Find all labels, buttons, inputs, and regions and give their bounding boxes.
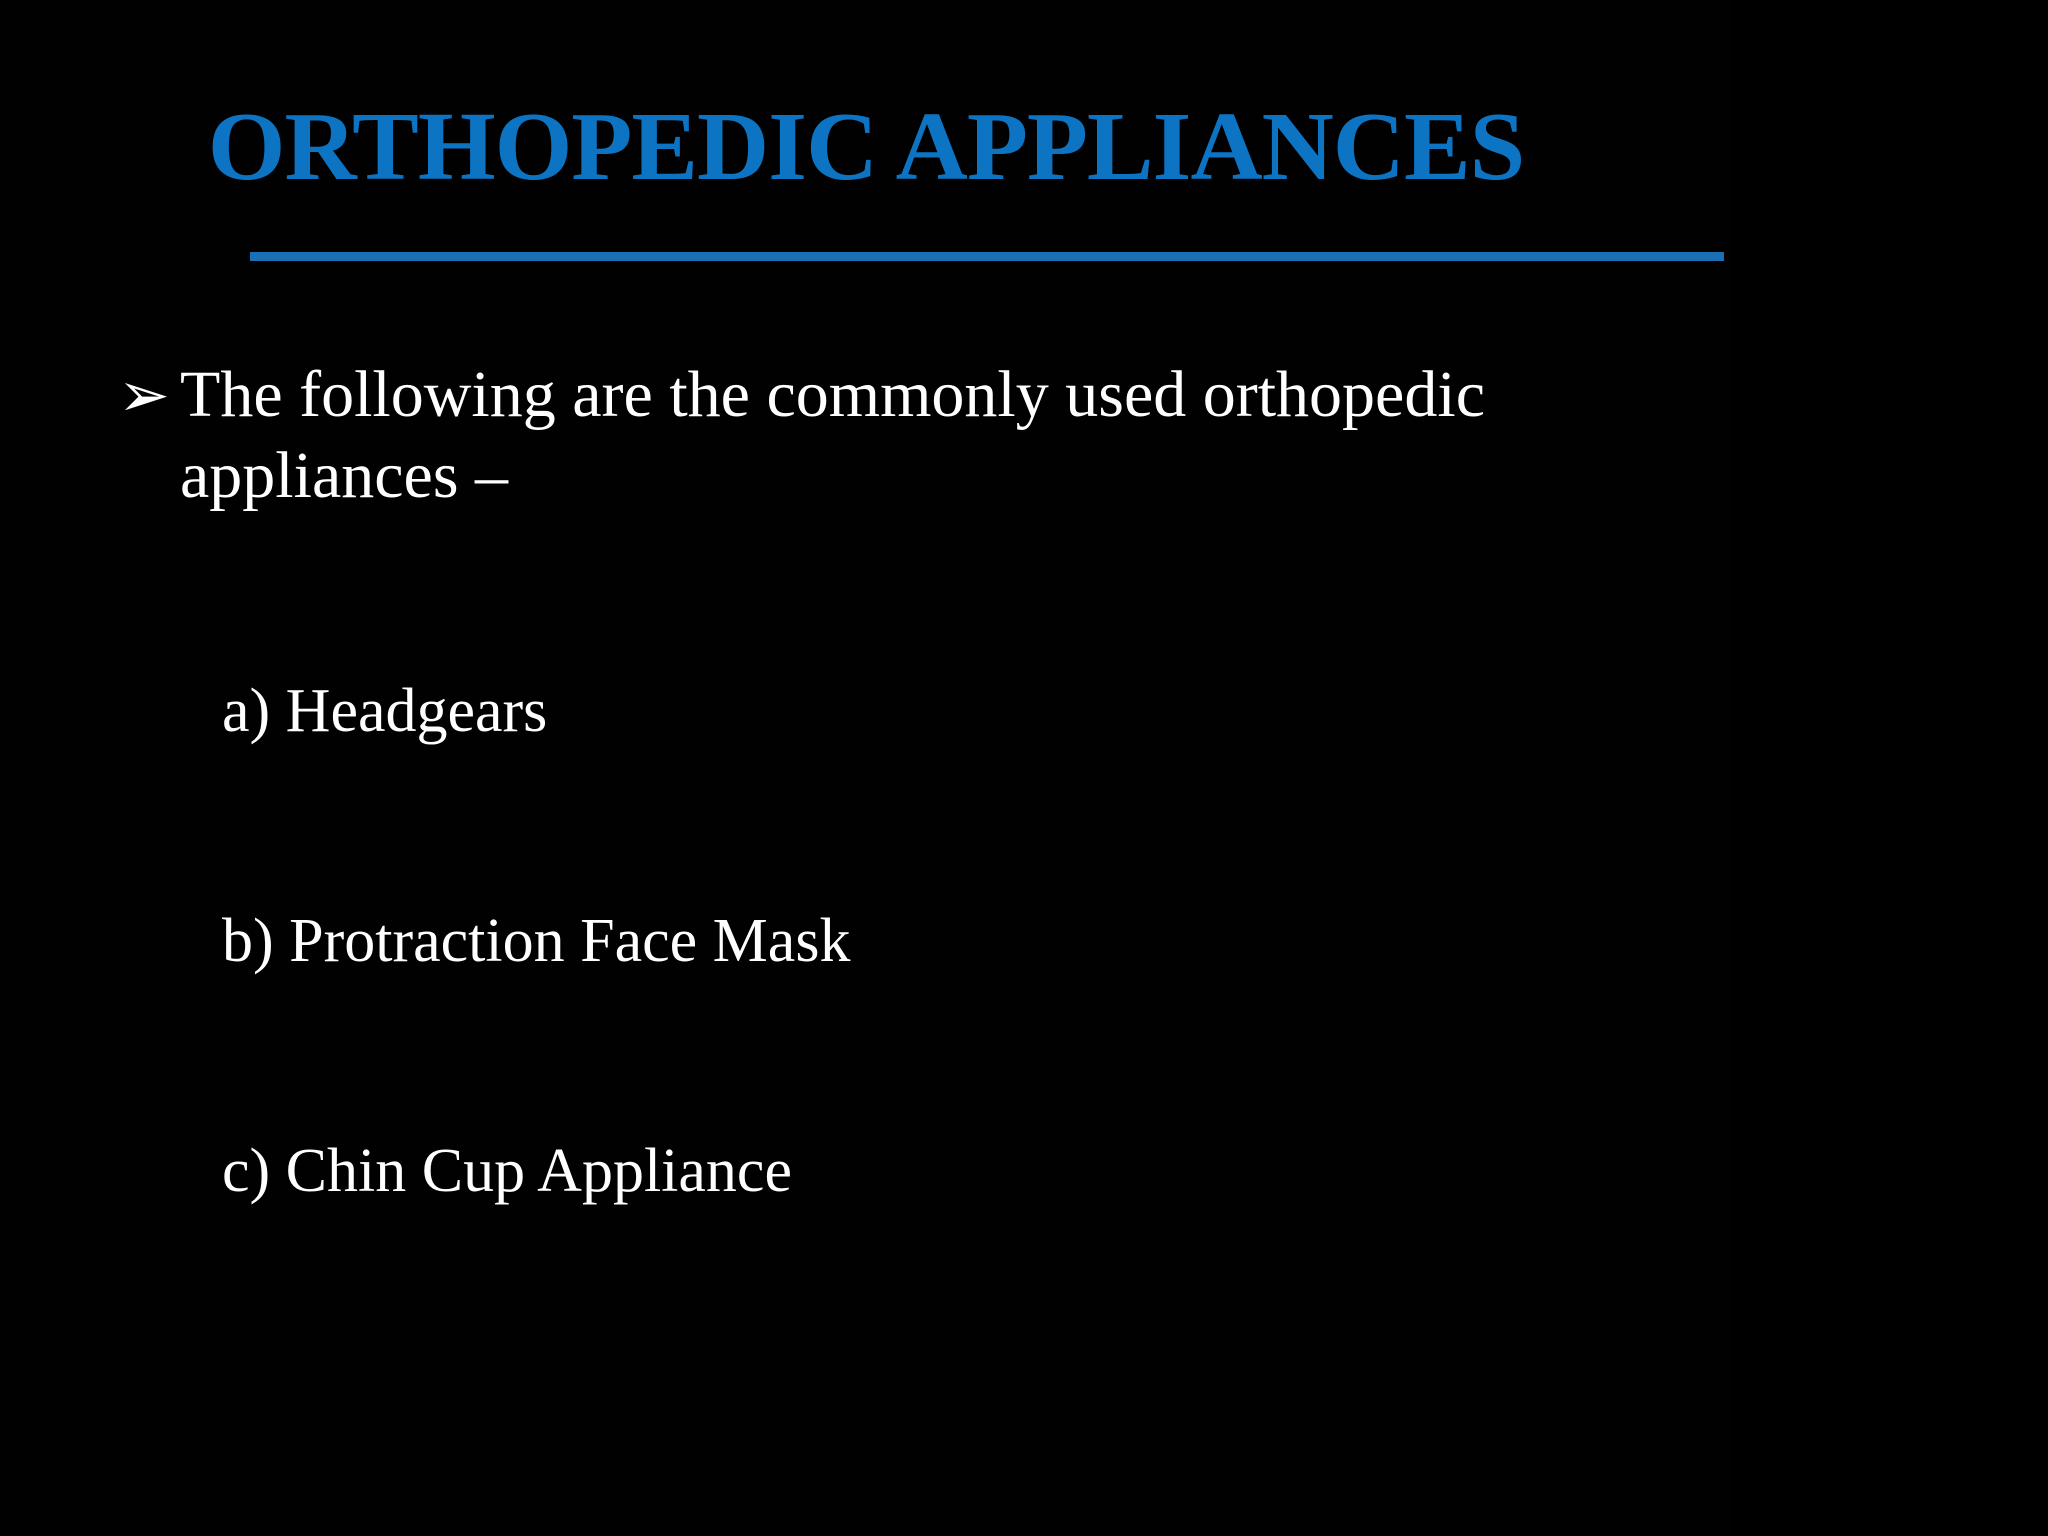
- slide-title-block: ORTHOPEDIC APPLIANCES: [0, 98, 1732, 198]
- bullet-item-label: The following are the commonly used orth…: [180, 355, 1572, 516]
- list-item: a) Headgears: [0, 680, 1732, 910]
- presentation-slide: ORTHOPEDIC APPLIANCES ➢ The following ar…: [0, 0, 2048, 1536]
- bullet-list-item: ➢ The following are the commonly used or…: [0, 355, 1732, 516]
- list-item: b) Protraction Face Mask: [0, 910, 1732, 1140]
- title-underline-rule: [250, 252, 1724, 261]
- list-item: c) Chin Cup Appliance: [0, 1140, 1732, 1370]
- appliance-sub-list: a) Headgears b) Protraction Face Mask c)…: [0, 680, 1732, 1370]
- arrow-bullet-icon: ➢: [118, 357, 180, 433]
- page-title: ORTHOPEDIC APPLIANCES: [0, 98, 1749, 198]
- slide-body-block: ➢ The following are the commonly used or…: [0, 355, 1732, 516]
